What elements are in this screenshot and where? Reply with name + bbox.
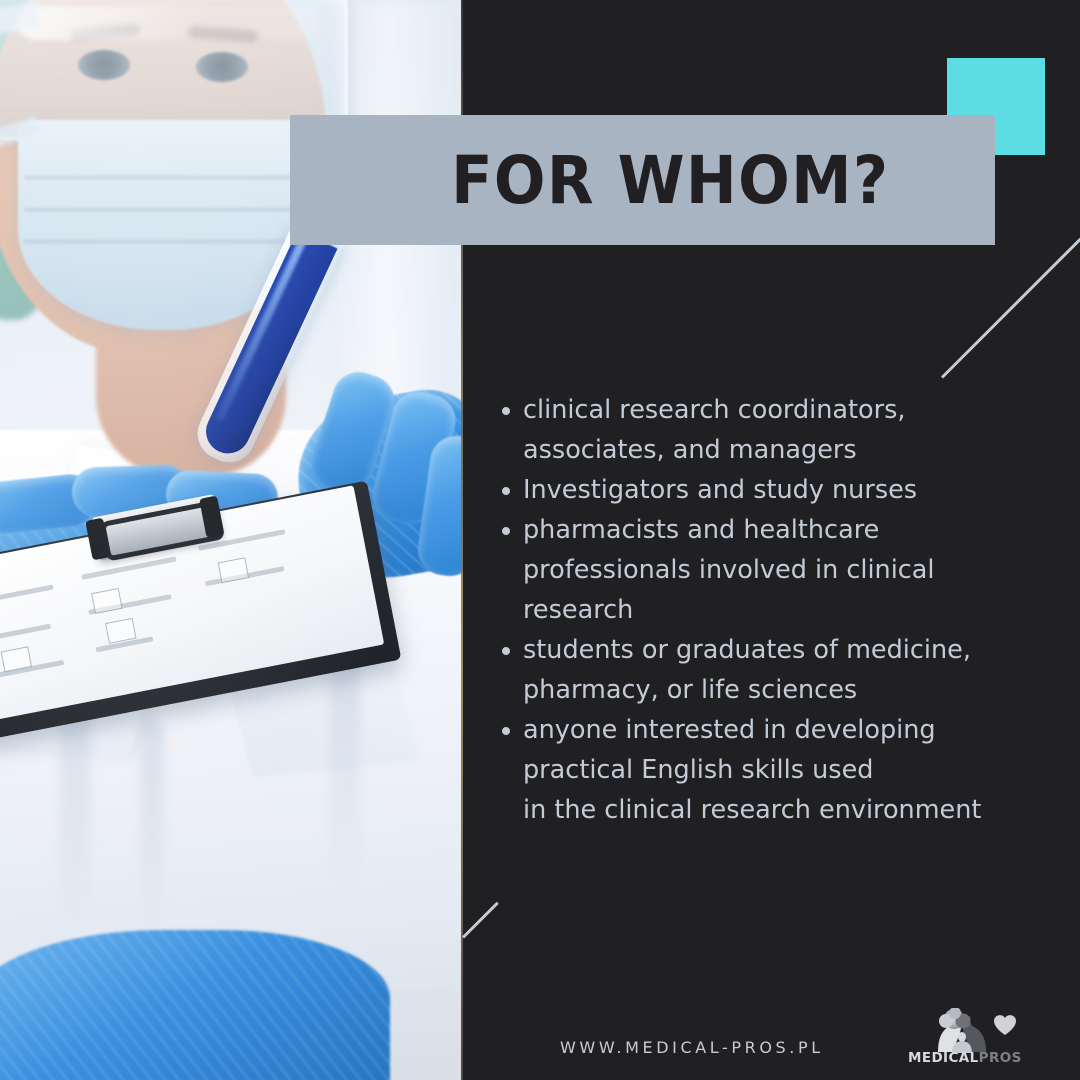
face-mask-pleat [24, 176, 302, 179]
form-line [0, 624, 51, 641]
form-line [0, 584, 54, 603]
form-line [81, 556, 176, 579]
list-item: students or graduates of medicine, pharm… [497, 630, 1057, 710]
audience-list: clinical research coordinators, associat… [497, 390, 1057, 830]
lab-coat-fold [330, 640, 360, 890]
head-tree-heart-icon [908, 1008, 1016, 1054]
list-item: anyone interested in developing practica… [497, 710, 1057, 830]
goggles-reflection [18, 6, 318, 40]
title-banner: FOR WHOM? [290, 115, 995, 245]
website-url: WWW.MEDICAL-PROS.PL [560, 1038, 824, 1057]
diagonal-line-left [462, 902, 499, 939]
page-title: FOR WHOM? [451, 142, 889, 219]
brand-name-secondary: PROS [979, 1050, 1022, 1066]
list-item: Investigators and study nurses [497, 470, 1057, 510]
face-mask-pleat [24, 240, 302, 243]
list-item: clinical research coordinators, associat… [497, 390, 1057, 470]
glove-texture [0, 930, 390, 1080]
brand-logo-wordmark: MEDICALPROS [908, 1050, 1016, 1066]
face-mask-pleat [24, 208, 302, 211]
form-checkbox [91, 588, 122, 614]
brand-logo: MEDICALPROS [908, 1008, 1016, 1070]
gloved-hands-lower [0, 930, 390, 1080]
lab-coat-fold [140, 720, 164, 930]
form-checkbox [218, 557, 249, 583]
poster-canvas: FOR WHOM? clinical research coordinators… [0, 0, 1080, 1080]
brand-name-primary: MEDICAL [908, 1050, 979, 1066]
list-item: pharmacists and healthcare professionals… [497, 510, 1057, 630]
lab-coat-fold [60, 700, 90, 930]
diagonal-line-right [941, 238, 1080, 379]
